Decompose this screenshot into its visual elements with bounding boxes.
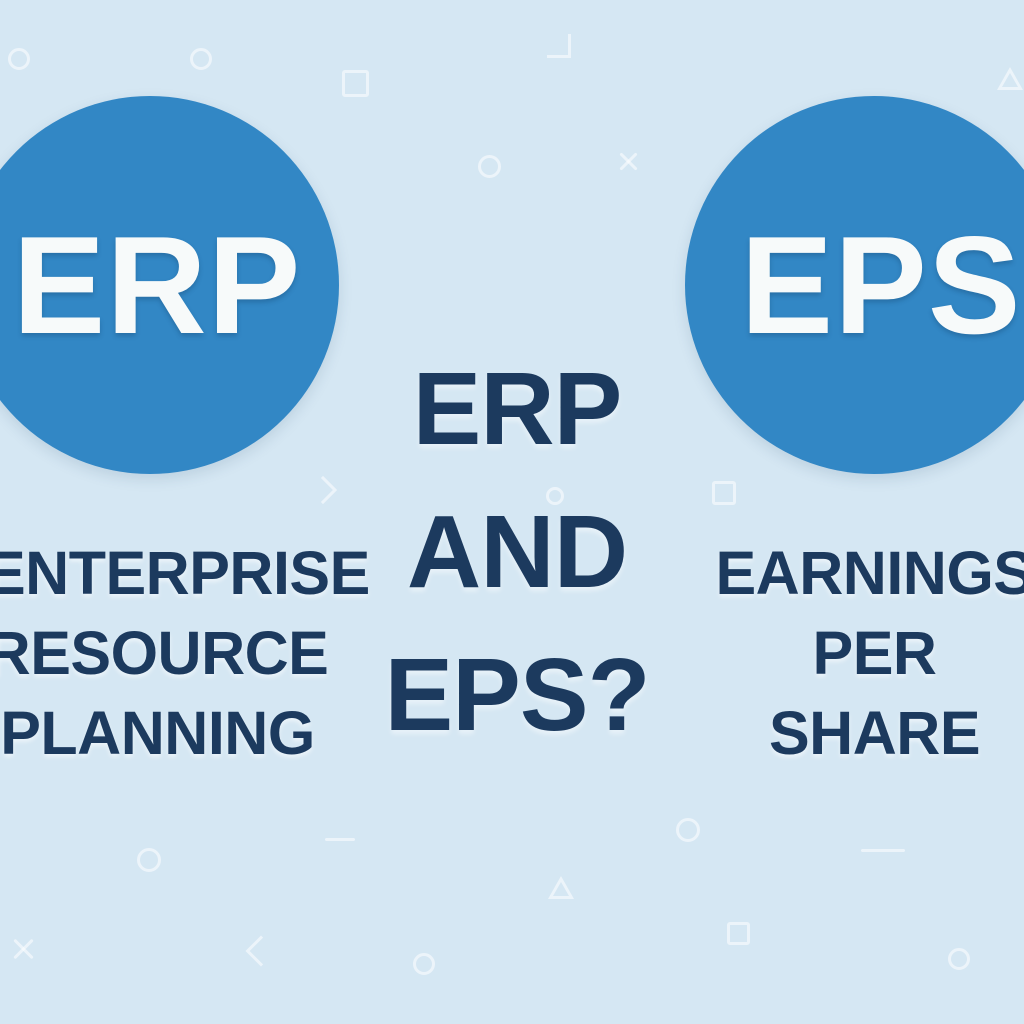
corner-bracket-icon <box>547 34 571 58</box>
headline-line-2: AND <box>352 480 682 623</box>
eps-caption-line-2: PER <box>702 613 1024 693</box>
circle-outline-icon <box>137 848 161 872</box>
eps-caption-line-1: EARNINGS <box>702 533 1024 613</box>
x-mark-icon <box>617 150 640 173</box>
eps-badge-circle: EPS <box>685 96 1024 474</box>
triangle-outline-icon <box>997 67 1023 90</box>
erp-abbreviation-label: ERP <box>13 216 302 355</box>
erp-badge-circle: ERP <box>0 96 339 474</box>
dash-icon <box>861 849 905 852</box>
dash-icon <box>325 838 355 841</box>
headline-line-1: ERP <box>352 337 682 480</box>
circle-outline-icon <box>8 48 30 70</box>
infographic-canvas: ERP ENTERPRISE RESOURCE PLANNING ERP AND… <box>0 0 1024 1024</box>
circle-outline-icon <box>413 953 435 975</box>
x-mark-icon <box>10 936 36 962</box>
erp-caption-line-1: ENTERPRISE <box>0 533 330 613</box>
eps-abbreviation-label: EPS <box>740 216 1021 355</box>
erp-caption: ENTERPRISE RESOURCE PLANNING <box>0 533 330 773</box>
erp-caption-line-3: PLANNING <box>0 693 330 773</box>
square-outline-icon <box>727 922 750 945</box>
circle-outline-icon <box>478 155 501 178</box>
erp-caption-line-2: RESOURCE <box>0 613 330 693</box>
square-outline-icon <box>342 70 369 97</box>
chevron-right-icon <box>309 476 337 504</box>
headline-line-3: EPS? <box>352 623 682 766</box>
square-outline-icon <box>712 481 736 505</box>
eps-caption-line-3: SHARE <box>702 693 1024 773</box>
headline-question: ERP AND EPS? <box>352 337 682 766</box>
circle-outline-icon <box>948 948 970 970</box>
eps-caption: EARNINGS PER SHARE <box>702 533 1024 773</box>
circle-outline-icon <box>190 48 212 70</box>
circle-outline-icon <box>676 818 700 842</box>
chevron-left-icon <box>245 935 276 966</box>
triangle-outline-icon <box>548 876 574 899</box>
